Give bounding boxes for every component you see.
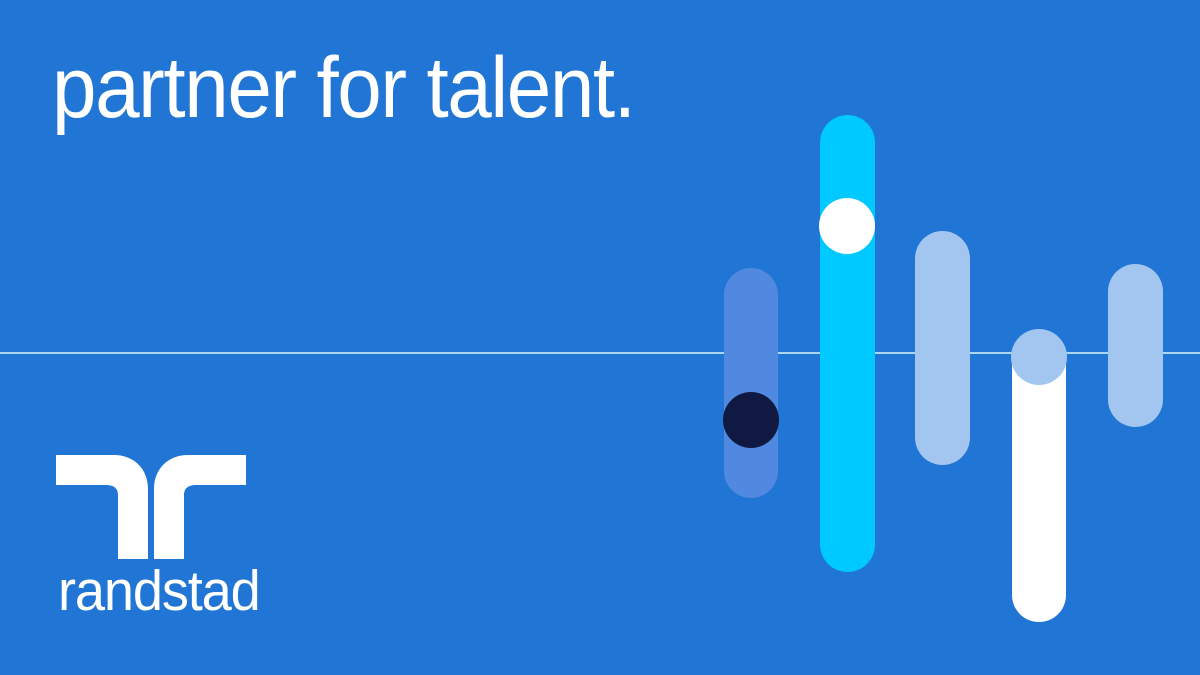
chart-bar-bar-2 <box>820 115 875 572</box>
page-title: partner for talent. <box>52 42 635 135</box>
randstad-y-logo-icon <box>56 455 246 559</box>
brand-logo-lockup: randstad <box>56 455 316 630</box>
chart-marker-navy-dot <box>723 392 779 448</box>
randstad-brand-banner: partner for talent. randstad <box>0 0 1200 675</box>
chart-bar-bar-5 <box>1108 264 1163 427</box>
chart-bar-bar-1 <box>724 268 778 498</box>
chart-bar-bar-3 <box>915 231 970 465</box>
chart-marker-light-blue-dot <box>1011 329 1067 385</box>
brand-wordmark: randstad <box>58 563 260 620</box>
chart-marker-white-dot <box>819 198 875 254</box>
